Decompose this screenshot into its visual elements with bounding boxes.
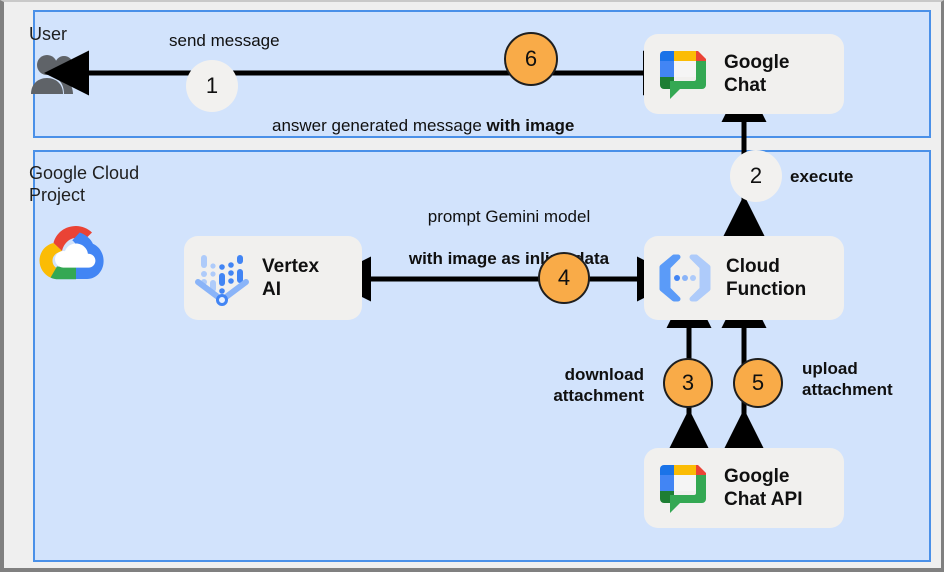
step-circle-4: 4 bbox=[538, 252, 590, 304]
gcp-panel-title: Google Cloud Project bbox=[29, 162, 139, 206]
prompt-text-regular: prompt Gemini model bbox=[382, 206, 636, 227]
step-circle-5: 5 bbox=[733, 358, 783, 408]
edge-label-download-attachment: download attachment bbox=[474, 364, 644, 406]
edge-label-answer-generated-message: answer generated message with image bbox=[272, 94, 574, 136]
google-chat-icon bbox=[656, 461, 710, 515]
node-vertex-ai[interactable]: Vertex AI bbox=[184, 236, 362, 320]
diagram-canvas: User Google Cloud Project bbox=[0, 0, 944, 572]
node-cloud-function-label: Cloud Function bbox=[726, 255, 806, 301]
people-icon bbox=[28, 54, 82, 96]
answer-text-regular: answer generated message bbox=[272, 116, 487, 135]
node-google-chat-api-label: Google Chat API bbox=[724, 465, 802, 511]
node-google-chat-label: Google Chat bbox=[724, 51, 789, 97]
edge-label-execute: execute bbox=[790, 166, 853, 187]
cloud-function-icon bbox=[656, 249, 714, 307]
node-google-chat-api[interactable]: Google Chat API bbox=[644, 448, 844, 528]
node-google-chat[interactable]: Google Chat bbox=[644, 34, 844, 114]
edge-label-prompt-gemini: prompt Gemini model with image as inline… bbox=[382, 185, 636, 290]
step-circle-2: 2 bbox=[730, 150, 782, 202]
answer-text-bold: with image bbox=[487, 116, 575, 135]
step-circle-6: 6 bbox=[504, 32, 558, 86]
node-vertex-ai-label: Vertex AI bbox=[262, 255, 319, 301]
google-chat-icon bbox=[656, 47, 710, 101]
arrow-user-google-chat bbox=[76, 60, 656, 86]
edge-label-upload-attachment: upload attachment bbox=[802, 358, 942, 400]
prompt-text-bold: with image as inline data bbox=[382, 248, 636, 269]
step-circle-3: 3 bbox=[663, 358, 713, 408]
step-circle-1: 1 bbox=[186, 60, 238, 112]
vertex-ai-icon bbox=[194, 249, 250, 307]
user-panel-title: User bbox=[29, 23, 67, 45]
google-cloud-logo bbox=[38, 224, 114, 282]
edge-label-send-message: send message bbox=[169, 30, 280, 51]
node-cloud-function[interactable]: Cloud Function bbox=[644, 236, 844, 320]
